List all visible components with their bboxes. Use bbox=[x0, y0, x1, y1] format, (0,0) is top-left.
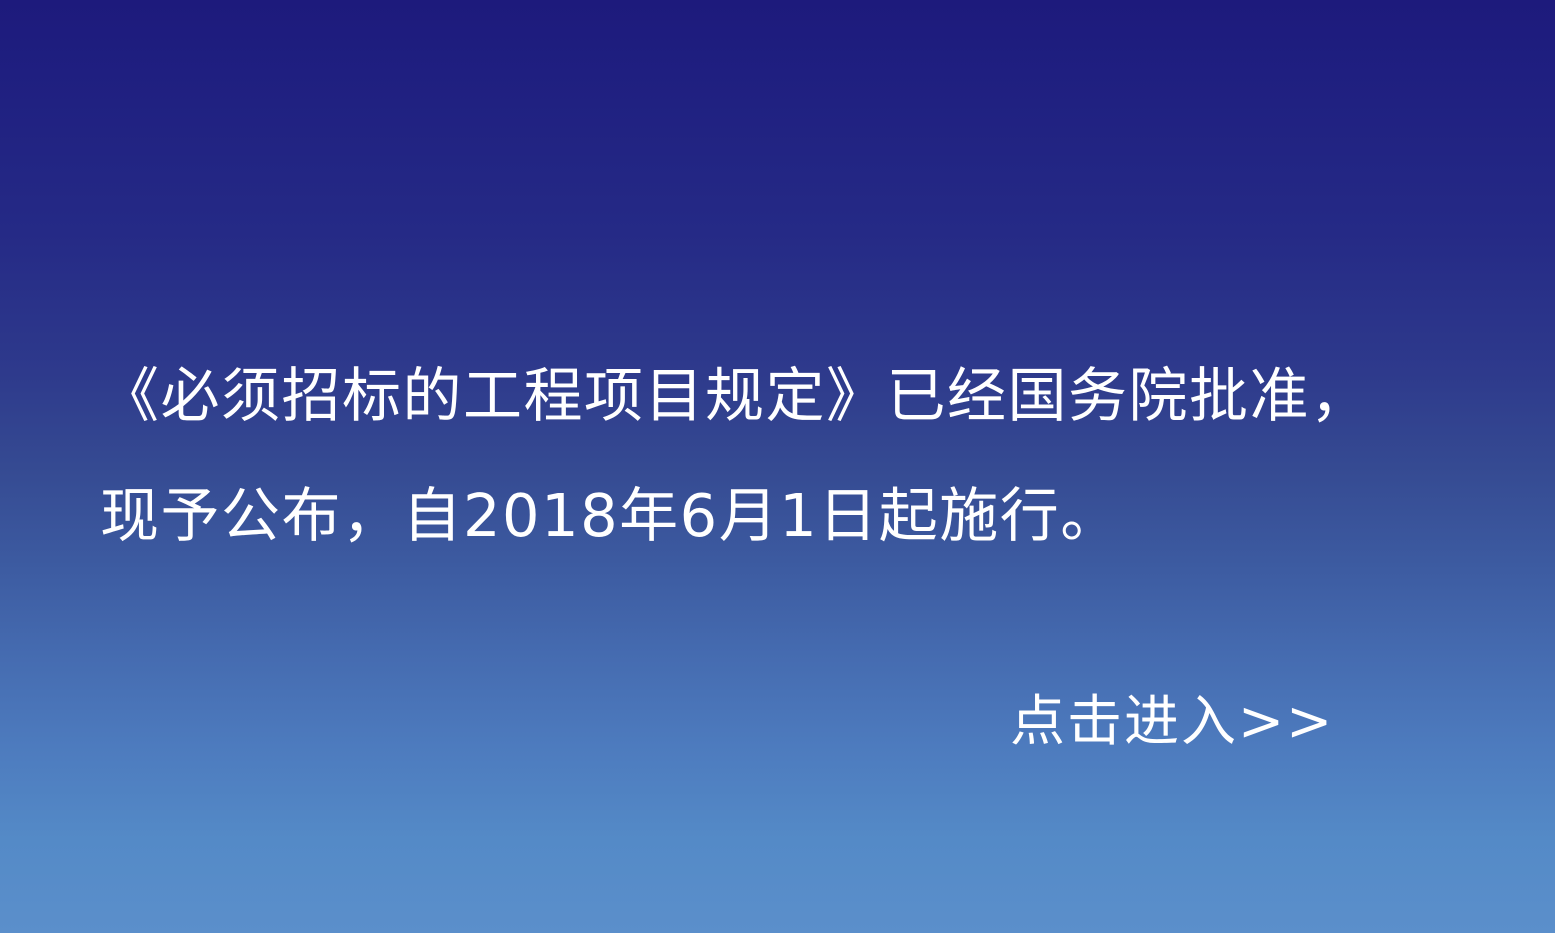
cta-container: 点击进入>> bbox=[1010, 686, 1430, 756]
banner-background: 《必须招标的工程项目规定》已经国务院批准， 现予公布，自2018年6月1日起施行… bbox=[0, 0, 1555, 933]
notice-text-block: 《必须招标的工程项目规定》已经国务院批准， 现予公布，自2018年6月1日起施行… bbox=[100, 336, 1460, 576]
enter-link[interactable]: 点击进入>> bbox=[1010, 686, 1334, 756]
notice-banner: 《必须招标的工程项目规定》已经国务院批准， 现予公布，自2018年6月1日起施行… bbox=[0, 0, 1555, 933]
notice-line-2: 现予公布，自2018年6月1日起施行。 bbox=[100, 456, 1460, 576]
notice-line-1: 《必须招标的工程项目规定》已经国务院批准， bbox=[100, 336, 1460, 456]
